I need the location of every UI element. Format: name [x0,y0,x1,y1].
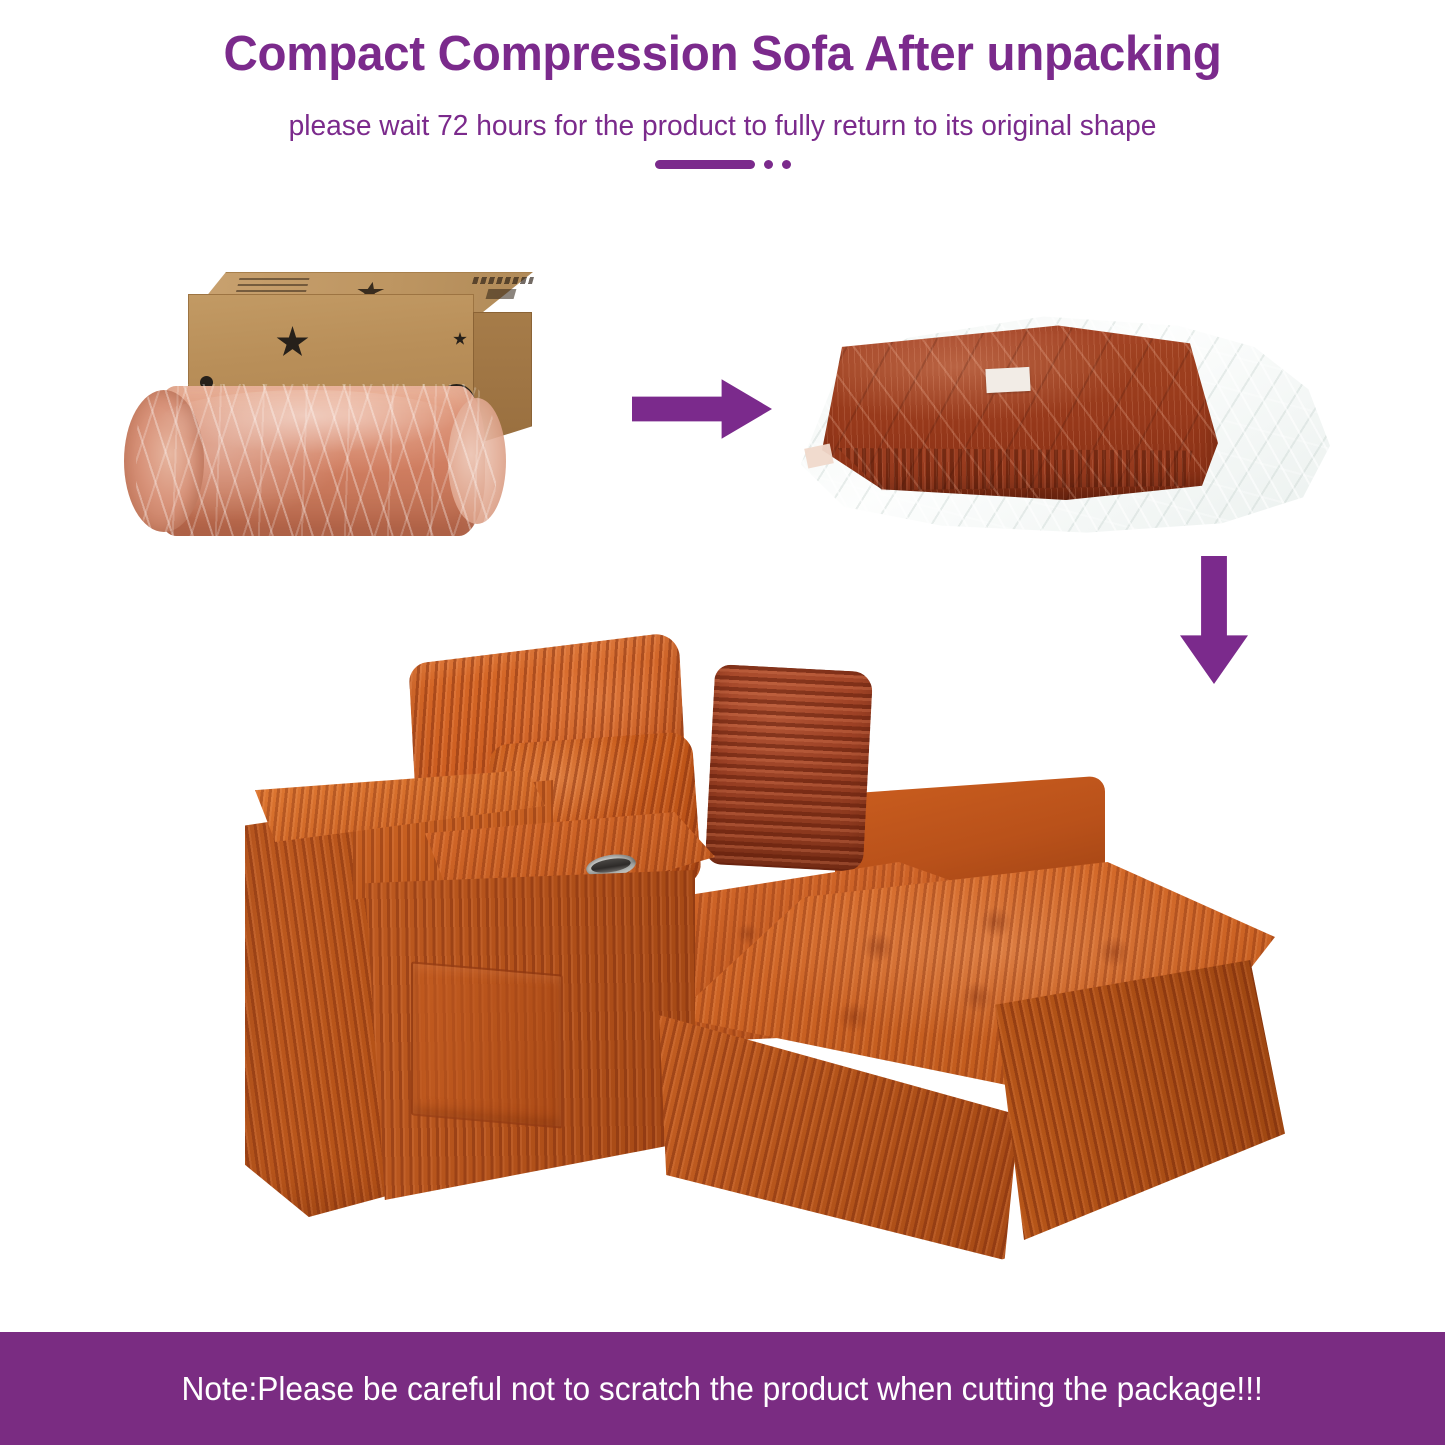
divider [0,160,1445,169]
sofa-side-pocket [411,961,563,1128]
note-text: Note:Please be careful not to scratch th… [182,1370,1263,1408]
compressed-sofa-ribbed-edge [830,448,1200,492]
rolled-sofa-package [128,384,500,544]
roll-plastic-wrap [136,384,496,542]
carton-top-label [486,289,517,299]
step-2-flattened-sofa-in-bag [790,300,1330,535]
arrow-right-shape [632,378,772,440]
package-label [985,367,1030,393]
divider-bar [655,160,755,169]
clear-plastic-bag [790,300,1330,535]
infographic-page: Compact Compression Sofa After unpacking… [0,0,1445,1445]
divider-dot-1 [764,160,773,169]
page-title: Compact Compression Sofa After unpacking [22,26,1424,82]
note-banner: Note:Please be careful not to scratch th… [0,1332,1445,1445]
arrow-right-icon [632,378,772,440]
carton-print-text-right [472,277,534,284]
step-3-assembled-sofa [235,630,1290,1260]
divider-dot-2 [782,160,791,169]
step-1-carton-with-rolled-sofa [128,272,548,560]
page-subtitle: please wait 72 hours for the product to … [22,110,1424,143]
throw-pillow-right [705,664,873,872]
ottoman-side-panel [995,960,1285,1240]
